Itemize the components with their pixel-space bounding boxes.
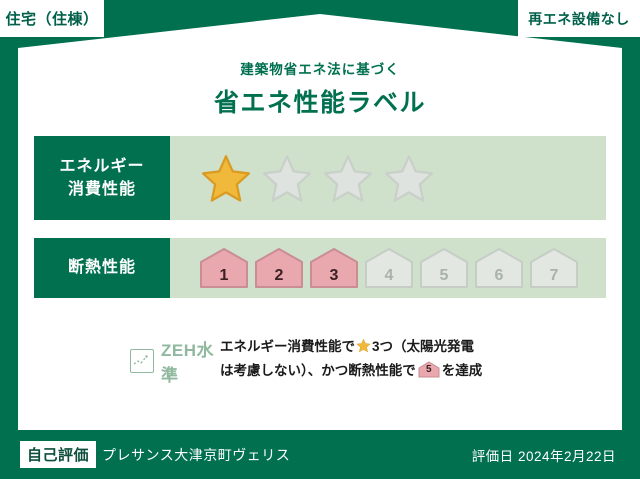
title-subtitle: 建築物省エネ法に基づく [0,58,640,78]
zeh-description-row: ZEH水準 エネルギー消費性能で 3つ（太陽光発電 は考慮しない）、かつ断熱性能… [34,336,606,386]
inline-house-value: 5 [418,362,440,379]
description-part2: は考慮しない）、かつ断熱性能で [220,363,416,378]
building-name: プレサンス大津京町ヴェリス [102,445,290,465]
description-star-count: 3つ（太陽光発電 [372,339,474,354]
insulation-level-1: 1 [198,246,250,290]
insulation-level-value: 2 [253,267,305,285]
insulation-performance-label: 断熱性能 [34,238,170,298]
page-title: 建築物省エネ法に基づく 省エネ性能ラベル [0,58,640,119]
zeh-square-icon [130,349,154,373]
insulation-performance-row: 断熱性能 1234567 [34,238,606,298]
badge-housing-type: 住宅（住棟） [0,0,104,37]
insulation-performance-label-text: 断熱性能 [68,256,136,279]
badge-renewable-energy: 再エネ設備なし [518,0,640,37]
star-empty [383,153,435,203]
star-rating [200,153,435,203]
description-part3: を達成 [442,363,483,378]
energy-performance-label-line2: 消費性能 [68,178,136,201]
self-evaluation-badge: 自己評価 [20,441,96,468]
insulation-level-7: 7 [528,246,580,290]
description-part1: エネルギー消費性能で [220,339,355,354]
energy-performance-row: エネルギー 消費性能 [34,136,606,220]
badge-renewable-energy-label: 再エネ設備なし [528,9,630,29]
insulation-level-value: 3 [308,267,360,285]
zeh-standard-label: ZEH水準 [161,336,220,386]
inline-star-icon [356,338,371,360]
insulation-level-value: 5 [418,267,470,285]
insulation-level-value: 6 [473,267,525,285]
insulation-level-scale: 1234567 [198,246,580,290]
badge-housing-type-label: 住宅（住棟） [5,8,98,29]
performance-description: エネルギー消費性能で 3つ（太陽光発電 は考慮しない）、かつ断熱性能で 5を達成 [220,336,606,383]
energy-performance-label-line1: エネルギー [59,155,144,178]
star-empty [261,153,313,203]
star-empty [322,153,374,203]
inline-house-icon: 5 [418,361,440,378]
insulation-level-value: 1 [198,267,250,285]
star-filled [200,153,252,203]
insulation-performance-body: 1234567 [170,238,606,298]
energy-performance-body [170,136,606,220]
zeh-standard-block: ZEH水準 [34,336,220,386]
energy-performance-label: エネルギー 消費性能 [34,136,170,220]
title-main: 省エネ性能ラベル [0,83,640,119]
insulation-level-value: 4 [363,267,415,285]
evaluation-date: 評価日 2024年2月22日 [472,445,616,465]
insulation-level-4: 4 [363,246,415,290]
insulation-level-5: 5 [418,246,470,290]
insulation-level-2: 2 [253,246,305,290]
insulation-level-6: 6 [473,246,525,290]
insulation-level-value: 7 [528,267,580,285]
insulation-level-3: 3 [308,246,360,290]
footer: 自己評価 プレサンス大津京町ヴェリス 評価日 2024年2月22日 [0,430,640,479]
